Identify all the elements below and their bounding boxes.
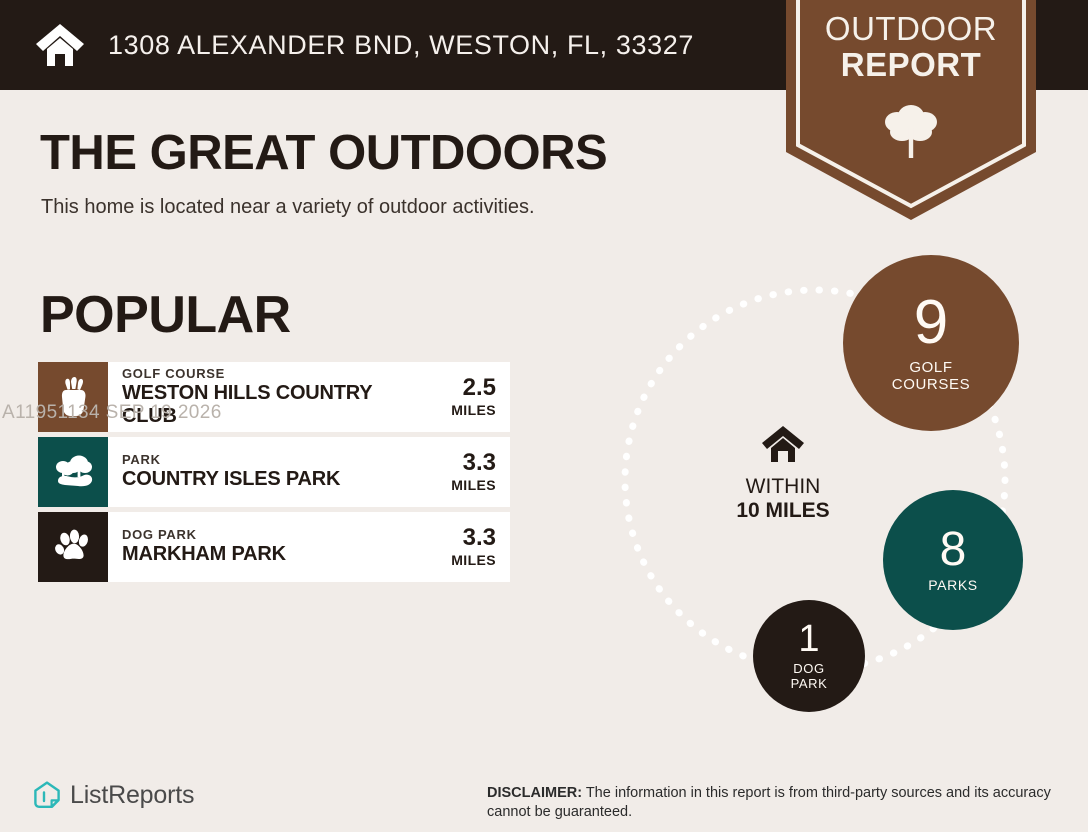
- distance-unit: MILES: [451, 477, 496, 493]
- list-item-name: MARKHAM PARK: [122, 543, 404, 565]
- outdoor-report-page: 1308 ALEXANDER BND, WESTON, FL, 33327 OU…: [0, 0, 1088, 832]
- distance-unit: MILES: [451, 552, 496, 568]
- paw-print-icon: [38, 512, 108, 582]
- within-distance: 10 MILES: [708, 499, 858, 523]
- home-icon: [34, 22, 86, 68]
- list-item-category: GOLF COURSE: [122, 367, 404, 381]
- distance-value: 2.5: [463, 376, 496, 400]
- list-item-body: PARK COUNTRY ISLES PARK: [108, 437, 404, 507]
- home-icon: [708, 425, 858, 468]
- stat-label-line-2: COURSES: [892, 377, 970, 394]
- distance-unit: MILES: [451, 402, 496, 418]
- stat-label: DOG PARK: [791, 662, 828, 691]
- list-item-category: DOG PARK: [122, 528, 404, 542]
- stat-label: PARKS: [928, 578, 977, 594]
- within-label: WITHIN: [708, 475, 858, 499]
- stat-circle-golf-courses: 9 GOLF COURSES: [843, 255, 1019, 431]
- diagram-center: WITHIN 10 MILES: [708, 425, 858, 522]
- stat-label: GOLF COURSES: [892, 360, 970, 394]
- outdoor-report-badge: OUTDOOR REPORT: [786, 0, 1036, 220]
- stat-label-line-1: GOLF: [892, 360, 970, 377]
- popular-heading: POPULAR: [40, 285, 291, 345]
- page-subtitle: This home is located near a variety of o…: [41, 196, 535, 219]
- stat-circle-parks: 8 PARKS: [883, 490, 1023, 630]
- list-item-distance: 3.3 MILES: [404, 512, 510, 582]
- list-item[interactable]: PARK COUNTRY ISLES PARK 3.3 MILES: [38, 437, 510, 507]
- list-item-name: COUNTRY ISLES PARK: [122, 468, 404, 490]
- listreports-logo[interactable]: ListReports: [32, 780, 194, 810]
- stat-circle-dog-park: 1 DOG PARK: [753, 600, 865, 712]
- list-item-distance: 2.5 MILES: [404, 362, 510, 432]
- distance-value: 3.3: [463, 451, 496, 475]
- list-item-name: WESTON HILLS COUNTRY CLUB: [122, 382, 404, 427]
- disclaimer-label: DISCLAIMER:: [487, 785, 582, 801]
- list-item-body: DOG PARK MARKHAM PARK: [108, 512, 404, 582]
- stat-label-line-2: PARK: [791, 677, 828, 692]
- stat-label-line-1: DOG: [791, 662, 828, 677]
- list-item[interactable]: GOLF COURSE WESTON HILLS COUNTRY CLUB 2.…: [38, 362, 510, 432]
- list-item-distance: 3.3 MILES: [404, 437, 510, 507]
- listreports-logo-text: ListReports: [70, 781, 194, 810]
- golf-bag-icon: [38, 362, 108, 432]
- stat-count: 1: [798, 620, 819, 658]
- list-item-category: PARK: [122, 453, 404, 467]
- stats-diagram: 9 GOLF COURSES 8 PARKS 1 DOG PARK: [580, 240, 1050, 730]
- property-address: 1308 ALEXANDER BND, WESTON, FL, 33327: [108, 30, 694, 61]
- stat-count: 8: [940, 526, 967, 574]
- list-item-body: GOLF COURSE WESTON HILLS COUNTRY CLUB: [108, 362, 404, 432]
- park-trees-icon: [38, 437, 108, 507]
- list-item[interactable]: DOG PARK MARKHAM PARK 3.3 MILES: [38, 512, 510, 582]
- distance-value: 3.3: [463, 526, 496, 550]
- disclaimer: DISCLAIMER: The information in this repo…: [487, 784, 1057, 822]
- popular-list: GOLF COURSE WESTON HILLS COUNTRY CLUB 2.…: [38, 362, 510, 587]
- stat-count: 9: [914, 292, 948, 354]
- page-title: THE GREAT OUTDOORS: [40, 125, 607, 181]
- listreports-logo-icon: [32, 780, 62, 810]
